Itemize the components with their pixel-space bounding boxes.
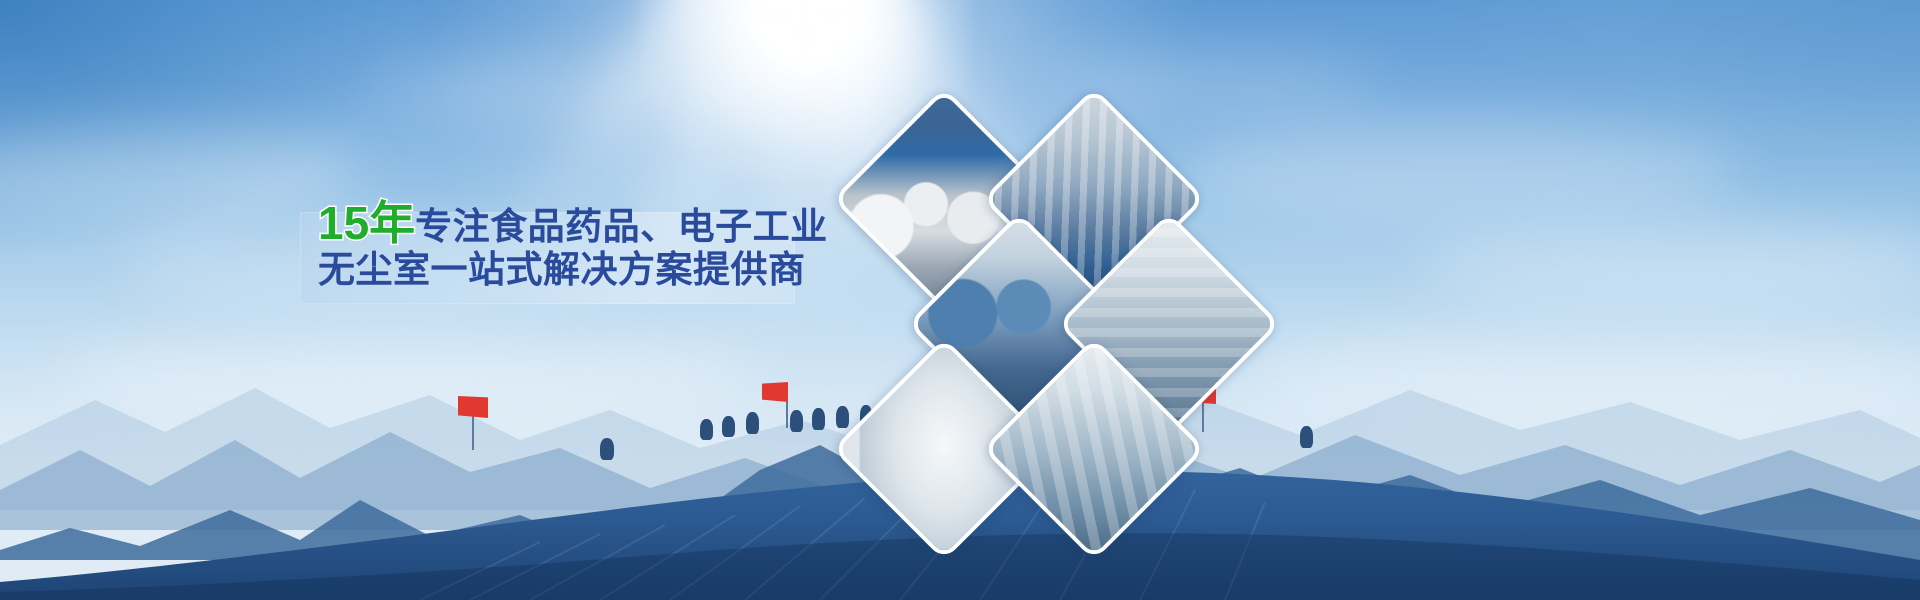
headline-line-1-rest: 专注食品药品、电子工业 [415,206,828,247]
headline-line-1: 15年专注食品药品、电子工业 [318,200,838,247]
summit-flag-mid [762,382,788,402]
years-highlight: 15年 [318,197,415,249]
cloud-wisp [380,60,740,120]
photo-diamond-cluster [845,95,1275,465]
headline-line-2: 无尘室一站式解决方案提供商 [318,251,838,289]
headline-block: 15年专注食品药品、电子工业 无尘室一站式解决方案提供商 [318,200,838,289]
hero-banner: 15年专注食品药品、电子工业 无尘室一站式解决方案提供商 [0,0,1920,600]
